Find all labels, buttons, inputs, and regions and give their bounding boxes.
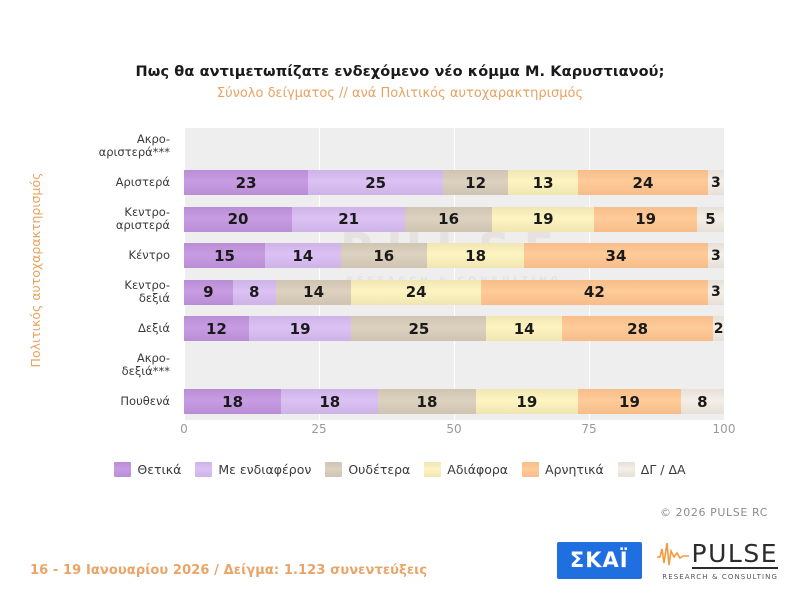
bar-row: 981424423 xyxy=(184,280,724,305)
legend-label: Αδιάφορα xyxy=(447,462,508,477)
legend-swatch xyxy=(522,462,539,477)
legend: ΘετικάΜε ενδιαφέρονΟυδέτεραΑδιάφοραΑρνητ… xyxy=(0,462,800,477)
pulse-logo-text: PULSE xyxy=(692,541,778,569)
legend-swatch xyxy=(195,462,212,477)
legend-label: Ουδέτερα xyxy=(348,462,410,477)
bar-segment: 12 xyxy=(443,170,508,195)
bar-value-label: 16 xyxy=(438,210,459,228)
bar-segment: 14 xyxy=(486,316,562,341)
gridline xyxy=(724,128,725,420)
bar-value-label: 9 xyxy=(203,283,213,301)
legend-swatch xyxy=(424,462,441,477)
x-axis-tick-label: 0 xyxy=(180,422,188,436)
bar-segment: 8 xyxy=(233,280,276,305)
bar-value-label: 24 xyxy=(406,283,427,301)
bar-segment: 18 xyxy=(184,389,281,414)
fieldwork-note: 16 - 19 Ιανουαρίου 2026 / Δείγμα: 1.123 … xyxy=(30,563,427,578)
bar-value-label: 18 xyxy=(465,247,486,265)
x-axis-tick-label: 75 xyxy=(581,422,596,436)
bar-row: 15141618343 xyxy=(184,243,724,268)
bar-segment: 42 xyxy=(481,280,708,305)
bar-segment: 18 xyxy=(427,243,524,268)
legend-label: ΔΓ / ΔΑ xyxy=(641,462,686,477)
skai-logo: ΣΚΑΪ xyxy=(557,542,642,579)
bar-value-label: 19 xyxy=(619,393,640,411)
bar-value-label: 28 xyxy=(627,320,648,338)
legend-label: Με ενδιαφέρον xyxy=(218,462,311,477)
bar-segment: 24 xyxy=(351,280,481,305)
bar-value-label: 24 xyxy=(633,174,654,192)
bar-value-label: 42 xyxy=(584,283,605,301)
bar-value-label: 25 xyxy=(365,174,386,192)
bar-segment: 9 xyxy=(184,280,233,305)
bar-value-label: 15 xyxy=(214,247,235,265)
bar-value-label: 14 xyxy=(514,320,535,338)
bar-segment: 3 xyxy=(708,170,724,195)
bar-segment: 3 xyxy=(708,280,724,305)
bar-segment: 5 xyxy=(697,207,724,232)
legend-item[interactable]: Θετικά xyxy=(114,462,181,477)
poll-chart-screenshot: Πως θα αντιμετωπίζατε ενδεχόμενο νέο κόμ… xyxy=(0,0,800,600)
y-axis-tick-label: Κεντρο-δεξιά xyxy=(48,279,170,305)
bar-value-label: 25 xyxy=(408,320,429,338)
bar-segment: 19 xyxy=(492,207,595,232)
waveform-icon xyxy=(656,540,690,570)
bar-value-label: 34 xyxy=(606,247,627,265)
bar-value-label: 19 xyxy=(516,393,537,411)
bar-value-label: 14 xyxy=(292,247,313,265)
bar-value-label: 3 xyxy=(711,175,721,191)
legend-item[interactable]: Ουδέτερα xyxy=(325,462,410,477)
bar-segment: 3 xyxy=(708,243,724,268)
bar-segment: 23 xyxy=(184,170,308,195)
legend-swatch xyxy=(114,462,131,477)
legend-label: Θετικά xyxy=(137,462,181,477)
bar-value-label: 19 xyxy=(533,210,554,228)
page-subtitle: Σύνολο δείγματος // ανά Πολιτικός αυτοχα… xyxy=(0,86,800,101)
bar-value-label: 19 xyxy=(290,320,311,338)
bar-segment: 25 xyxy=(351,316,486,341)
legend-item[interactable]: ΔΓ / ΔΑ xyxy=(618,462,686,477)
bar-row: 12192514282 xyxy=(184,316,724,341)
pulse-logo-tagline: RESEARCH & CONSULTING xyxy=(662,573,778,581)
bar-segment: 19 xyxy=(578,389,681,414)
bar-segment: 19 xyxy=(594,207,697,232)
y-axis-tick-label: Κεντρο-αριστερά xyxy=(48,206,170,232)
bar-segment: 13 xyxy=(508,170,578,195)
skai-logo-text: ΣΚΑΪ xyxy=(570,548,629,572)
page-title: Πως θα αντιμετωπίζατε ενδεχόμενο νέο κόμ… xyxy=(0,64,800,80)
bar-value-label: 18 xyxy=(417,393,438,411)
legend-label: Αρνητικά xyxy=(545,462,604,477)
legend-swatch xyxy=(618,462,635,477)
bar-segment: 2 xyxy=(713,316,724,341)
bar-value-label: 13 xyxy=(533,174,554,192)
bar-row: 20211619195 xyxy=(184,207,724,232)
bar-value-label: 2 xyxy=(714,321,724,337)
bar-segment: 19 xyxy=(249,316,352,341)
y-axis-tick-label: Αριστερά xyxy=(48,176,170,189)
bar-segment: 16 xyxy=(341,243,427,268)
logo-group: ΣΚΑΪ PULSE RESEARCH & CONSULTING xyxy=(557,540,778,581)
bar-segment: 8 xyxy=(681,389,724,414)
legend-item[interactable]: Αδιάφορα xyxy=(424,462,508,477)
bar-value-label: 8 xyxy=(249,283,259,301)
bar-value-label: 20 xyxy=(228,210,249,228)
title-block: Πως θα αντιμετωπίζατε ενδεχόμενο νέο κόμ… xyxy=(0,64,800,101)
bar-rows: 2325121324320211619195151416183439814244… xyxy=(184,128,724,420)
bar-value-label: 18 xyxy=(222,393,243,411)
y-axis-tick-label: Ακρο-δεξιά*** xyxy=(48,352,170,378)
y-axis-title: Πολιτικός αυτοχαρακτηρισμός xyxy=(28,150,46,390)
x-axis: 0255075100 xyxy=(184,422,724,442)
x-axis-tick-label: 25 xyxy=(311,422,326,436)
bar-value-label: 12 xyxy=(206,320,227,338)
bar-segment: 21 xyxy=(292,207,405,232)
bar-value-label: 19 xyxy=(635,210,656,228)
bar-row: 23251213243 xyxy=(184,170,724,195)
bar-segment: 20 xyxy=(184,207,292,232)
x-axis-tick-label: 100 xyxy=(713,422,736,436)
y-axis-tick-label: Δεξιά xyxy=(48,322,170,335)
bar-segment: 24 xyxy=(578,170,708,195)
bar-segment: 14 xyxy=(276,280,352,305)
bar-segment: 18 xyxy=(281,389,378,414)
bar-value-label: 3 xyxy=(711,284,721,300)
bar-value-label: 23 xyxy=(236,174,257,192)
bar-segment: 18 xyxy=(378,389,475,414)
y-axis-tick-labels: Ακρο-αριστερά***ΑριστεράΚεντρο-αριστεράΚ… xyxy=(48,128,178,420)
bar-segment: 14 xyxy=(265,243,341,268)
bar-value-label: 18 xyxy=(319,393,340,411)
legend-item[interactable]: Αρνητικά xyxy=(522,462,604,477)
bar-value-label: 8 xyxy=(697,393,707,411)
plot-area: PULSE RESEARCH & CONSULTING 232512132432… xyxy=(184,128,724,420)
bar-value-label: 16 xyxy=(373,247,394,265)
x-axis-tick-label: 50 xyxy=(446,422,461,436)
bar-segment: 16 xyxy=(405,207,491,232)
bar-segment: 15 xyxy=(184,243,265,268)
bar-segment: 28 xyxy=(562,316,713,341)
legend-item[interactable]: Με ενδιαφέρον xyxy=(195,462,311,477)
bar-segment: 34 xyxy=(524,243,708,268)
pulse-logo: PULSE RESEARCH & CONSULTING xyxy=(656,540,778,581)
bar-segment: 19 xyxy=(476,389,579,414)
bar-value-label: 12 xyxy=(465,174,486,192)
copyright-text: © 2026 PULSE RC xyxy=(660,506,768,519)
legend-swatch xyxy=(325,462,342,477)
bar-value-label: 14 xyxy=(303,283,324,301)
bar-value-label: 21 xyxy=(338,210,359,228)
y-axis-tick-label: Κέντρο xyxy=(48,249,170,262)
bar-segment: 25 xyxy=(308,170,443,195)
y-axis-tick-label: Ακρο-αριστερά*** xyxy=(48,133,170,159)
bar-segment: 12 xyxy=(184,316,249,341)
bar-value-label: 3 xyxy=(711,248,721,264)
y-axis-tick-label: Πουθενά xyxy=(48,395,170,408)
bar-value-label: 5 xyxy=(705,210,715,228)
bar-row: 18181819198 xyxy=(184,389,724,414)
